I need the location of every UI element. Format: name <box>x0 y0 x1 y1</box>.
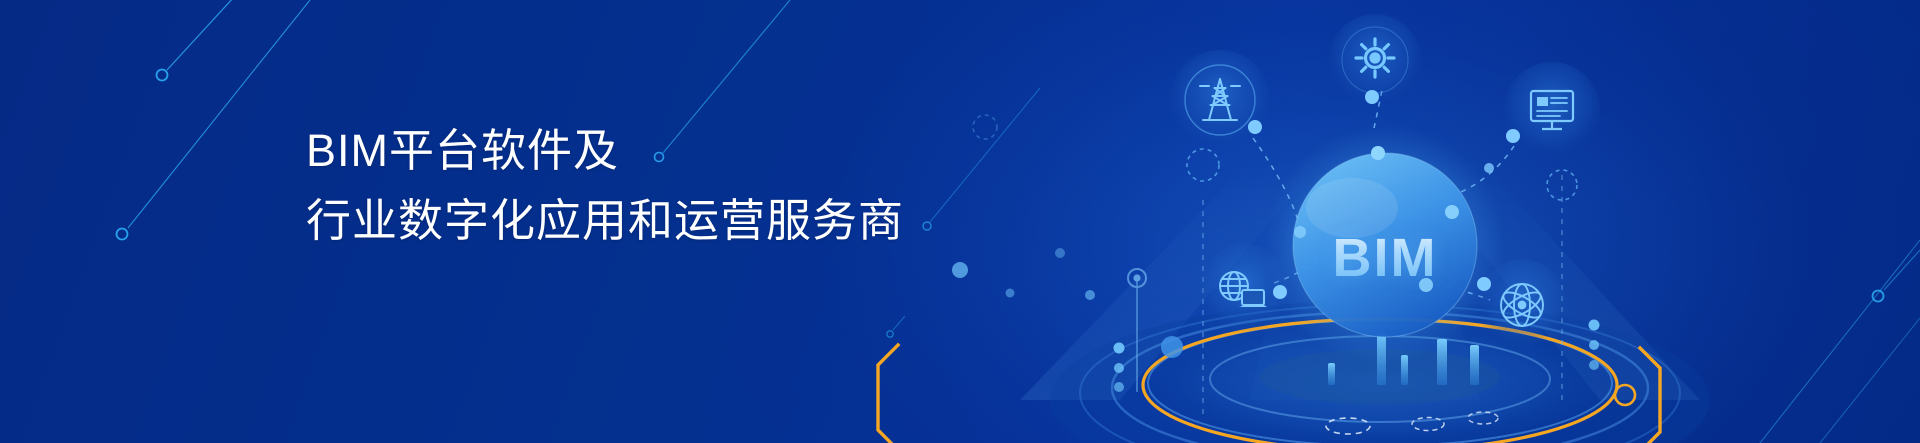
dot-cluster-right <box>1589 320 1600 371</box>
floating-dots <box>952 248 1065 278</box>
headline-line-2: 行业数字化应用和运营服务商 <box>306 186 946 256</box>
power-tower-icon <box>1170 50 1270 150</box>
bim-illustration <box>0 0 1920 443</box>
monitor-icon <box>1484 62 1600 173</box>
globe-laptop-icon <box>1200 244 1290 336</box>
accent-dot-2 <box>1161 336 1183 358</box>
gear-icon <box>1329 14 1421 106</box>
bim-sphere-label: BIM <box>1300 227 1470 289</box>
bracket-left <box>878 345 898 443</box>
hero-banner: BIM平台软件及 行业数字化应用和运营服务商 BIM <box>0 0 1920 443</box>
headline-block: BIM平台软件及 行业数字化应用和运营服务商 <box>306 116 946 256</box>
accent-dot-1 <box>1085 290 1095 300</box>
headline-line-1: BIM平台软件及 <box>306 116 946 186</box>
accent-dot-3 <box>1006 289 1015 298</box>
dot-cluster-left <box>1114 343 1125 393</box>
